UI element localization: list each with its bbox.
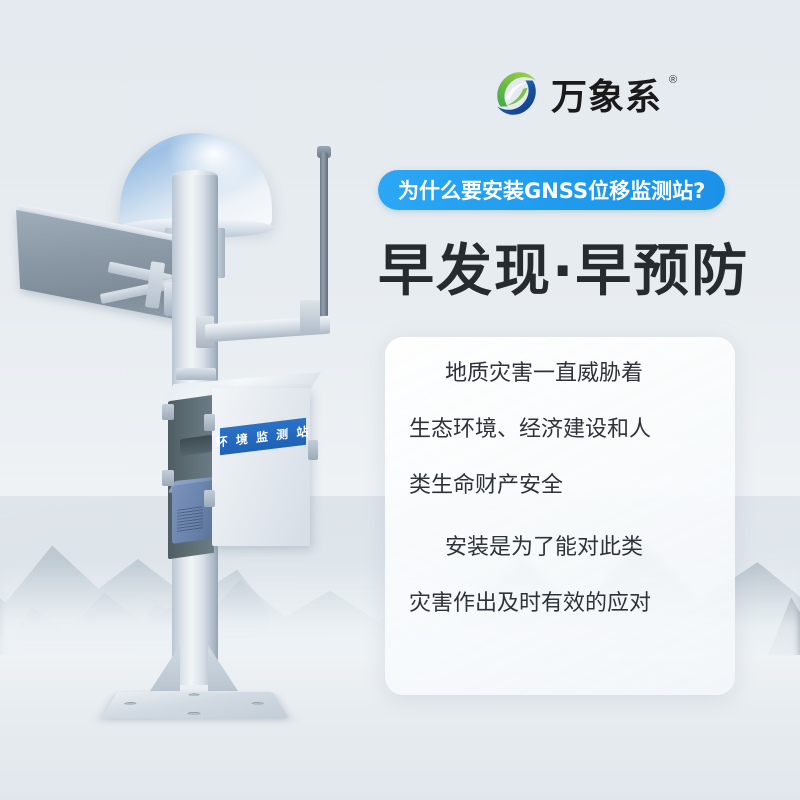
poster-canvas: 环 境 监 测 站 [0, 0, 800, 800]
description-line-4: 安装是为了能对此类 [409, 537, 711, 559]
base-bolt-hole-4 [188, 694, 199, 696]
enclosure-hinge-tab-2 [162, 470, 174, 486]
enclosure-latch [308, 440, 318, 460]
base-plate [101, 692, 289, 719]
whip-antenna-icon [320, 152, 328, 324]
question-banner-text: 为什么要安装GNSS位移监测站? [398, 175, 705, 205]
gnss-monitoring-station: 环 境 监 测 站 [0, 0, 400, 800]
base-bolt-hole-2 [251, 702, 264, 705]
brand-name: 万象系 [551, 68, 662, 120]
description-line-3: 类生命财产安全 [409, 475, 711, 497]
cross-arm-outer-bracket [300, 300, 320, 334]
base-bolt-hole-1 [124, 702, 137, 705]
content-column: 万象系 ® 为什么要安装GNSS位移监测站? 早发现·早预防 地质灾害一直威胁着… [360, 0, 800, 800]
enclosure-front-face [212, 388, 310, 546]
enclosure-hinge-tab-1 [162, 404, 174, 420]
base-gusset-right [208, 645, 238, 691]
description-line-2: 生态环境、经济建设和人 [409, 419, 711, 441]
enclosure-hinge-tab-3 [204, 414, 215, 431]
enclosure-upper-clamp [176, 368, 216, 380]
enclosure-module-grille [177, 506, 203, 534]
description-card: 地质灾害一直威胁着 生态环境、经济建设和人 类生命财产安全 安装是为了能对此类 … [385, 337, 735, 695]
description-line-5: 灾害作出及时有效的应对 [409, 593, 711, 615]
globe-swirl-logo-icon [490, 68, 542, 120]
description-line-1: 地质灾害一直威胁着 [409, 363, 711, 385]
page-title: 早发现·早预防 [378, 226, 749, 307]
base-bolt-hole-3 [187, 712, 200, 715]
brand-lockup: 万象系 ® [490, 68, 677, 120]
enclosure-hinge-tab-4 [204, 490, 215, 507]
base-gusset-left [150, 645, 180, 691]
question-banner: 为什么要安装GNSS位移监测站? [378, 170, 725, 210]
trademark-symbol: ® [669, 74, 677, 86]
